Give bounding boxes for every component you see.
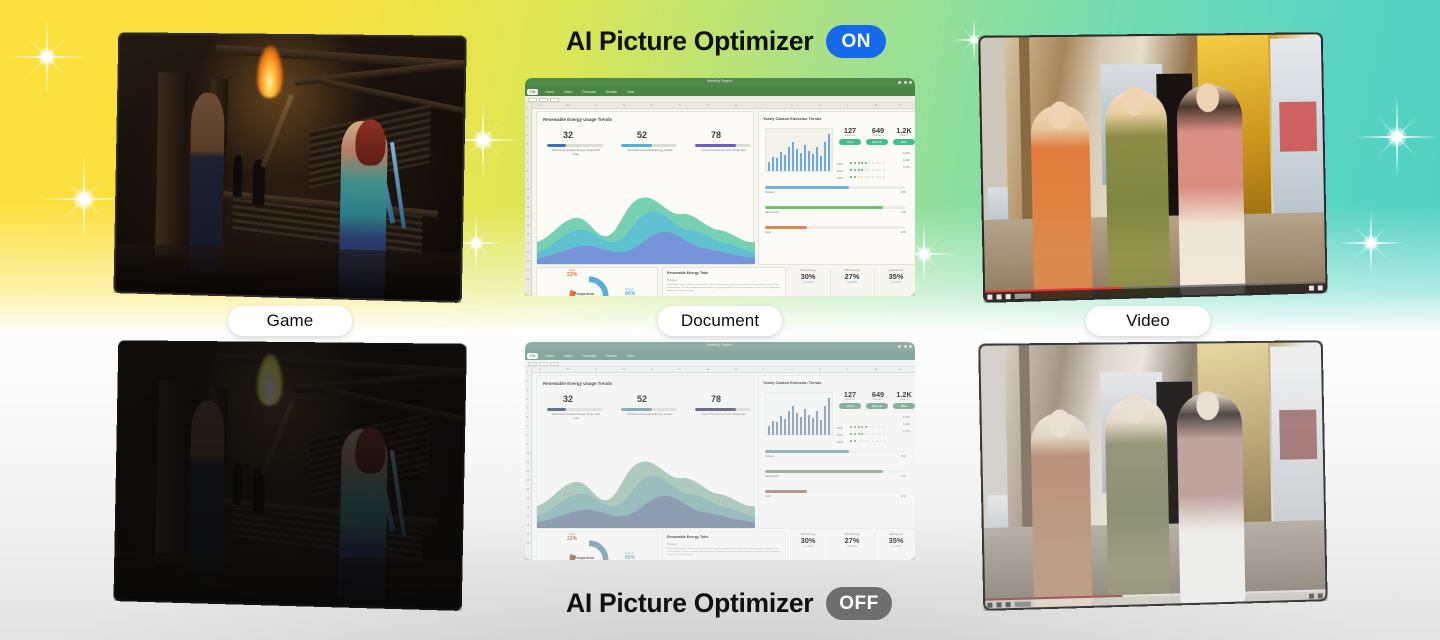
game-screen-on <box>113 32 466 303</box>
metric-value-2: 78 <box>711 394 721 404</box>
document-ribbon[interactable]: File Home Insert Formulas Review View <box>525 87 915 96</box>
ribbon-tab-view[interactable]: View <box>624 353 637 359</box>
document-artwork-off: Monthly Report File Home Insert Formulas… <box>525 342 915 560</box>
game-screen-off <box>113 340 466 611</box>
metric-value-0: 32 <box>563 130 573 140</box>
carbon-bar-chart <box>765 128 833 172</box>
document-screen-on: Monthly Report File Home Insert Formulas… <box>525 78 915 296</box>
stat-emission: 127 EMISSION <box>837 390 863 401</box>
hbar-nuclear <box>765 186 905 189</box>
hbar-label-0: Nuclear <box>765 191 774 194</box>
carbon-bar-chart <box>765 392 833 436</box>
tabs-card-subtitle: Policies <box>667 543 677 546</box>
card-renewable-trends: Renewable Energy Usage Trends 32 Nationa… <box>536 111 754 265</box>
video-screen-on <box>978 32 1327 303</box>
header-on: AI Picture Optimizer ON <box>566 25 886 58</box>
stat-value-0: 127 <box>837 126 863 135</box>
ribbon-tab-view[interactable]: View <box>624 89 637 95</box>
kpi-value-1: 27% <box>832 536 872 545</box>
hbar-label-1: Natural Gas <box>765 211 779 214</box>
year-amount-2: 3,700 <box>903 430 910 433</box>
metric-bar-0 <box>547 408 603 411</box>
tabs-card-body: Renewable energies derive from natural, … <box>667 548 783 557</box>
metric-caption-2: Future Perspective Index Challenges <box>697 149 751 153</box>
formula-bar[interactable] <box>525 96 915 103</box>
document-window-title: Monthly Report <box>707 343 733 347</box>
ribbon-tab-file[interactable]: File <box>527 89 538 95</box>
metric-caption-0: National Renewable Energy Usage Cost Ind… <box>549 149 603 156</box>
metric-value-2: 78 <box>711 130 721 140</box>
year-label-2: 2024 <box>837 441 843 444</box>
metric-value-0: 32 <box>563 394 573 404</box>
video-screen-off <box>978 340 1327 611</box>
hbar-value-0: 26% <box>901 191 906 194</box>
time-text <box>1015 601 1031 606</box>
next-icon[interactable] <box>996 602 1001 607</box>
renewable-trends-title: Renewable Energy Usage Trends <box>543 381 612 386</box>
document-body: Renewable Energy Usage Trends 32 Nationa… <box>532 109 915 296</box>
tabs-card-subtitle: Policies <box>667 279 677 282</box>
carbon-trends-title: Yearly Carbon Emission Trends <box>763 380 821 385</box>
year-amount-1: 4,430 <box>903 423 910 426</box>
stat-pill-1[interactable]: Reports <box>866 403 888 409</box>
kpi-delta-2: (+1.07%) <box>876 281 915 284</box>
kpi-solar: Solar Energy 30% (+2.13%) <box>788 269 828 284</box>
year-amount-1: 4,430 <box>903 159 910 162</box>
stat-impact: 1.2K IMPACT <box>891 390 915 401</box>
game-background-figure <box>233 155 243 197</box>
year-row: 2024 3,700 <box>837 430 885 448</box>
video-artwork-off <box>978 340 1327 611</box>
kpi-delta-2: (+1.07%) <box>876 545 915 548</box>
hbar-natural-gas <box>765 470 905 473</box>
document-artwork: Monthly Report File Home Insert Formulas… <box>525 78 915 296</box>
kpi-value-0: 30% <box>788 536 828 545</box>
stat-caption-2: IMPACT <box>891 135 915 137</box>
row-headers: 1234567891011121314151617181920 <box>525 103 532 296</box>
donut-slice-value-1: 60% <box>625 555 635 560</box>
game-artwork <box>113 32 466 303</box>
stat-targets: 649 TARGETS <box>865 126 891 137</box>
subtitles-icon[interactable] <box>1309 286 1314 291</box>
ribbon-tab-formulas[interactable]: Formulas <box>579 353 599 359</box>
ribbon-tab-review[interactable]: Review <box>603 89 620 95</box>
header-off-title: AI Picture Optimizer <box>566 588 813 619</box>
settings-icon[interactable] <box>1318 593 1323 598</box>
panel-document-off[interactable]: Monthly Report File Home Insert Formulas… <box>525 342 915 560</box>
tabs-card-body: Renewable energies derive from natural, … <box>667 284 783 293</box>
game-character-hair <box>355 119 386 166</box>
stat-pill-0[interactable]: Chart <box>839 139 861 145</box>
stat-targets: 649 TARGETS <box>865 390 891 401</box>
year-label-2: 2024 <box>837 177 843 180</box>
metric-caption-2: Future Perspective Index Challenges <box>697 413 751 417</box>
ribbon-tab-review[interactable]: Review <box>603 353 620 359</box>
stat-caption-1: TARGETS <box>865 399 891 401</box>
header-on-title: AI Picture Optimizer <box>566 26 813 57</box>
donut-center-title: Proportion <box>574 292 594 296</box>
ribbon-tab-formulas[interactable]: Formulas <box>579 89 599 95</box>
window-controls[interactable] <box>898 345 912 348</box>
panel-video-off[interactable] <box>978 340 1327 611</box>
area-chart <box>537 432 755 528</box>
video-subject-2 <box>1105 398 1171 608</box>
header-off: AI Picture Optimizer OFF <box>566 587 892 620</box>
time-text <box>1015 293 1031 298</box>
stat-pill-1[interactable]: Reports <box>866 139 888 145</box>
metric-bar-2 <box>695 408 751 411</box>
stat-pill-2[interactable]: Rate <box>893 139 915 145</box>
hbar-label-1: Natural Gas <box>765 475 779 478</box>
metric-bar-1 <box>621 408 677 411</box>
video-subject-1 <box>1030 413 1092 609</box>
document-titlebar: Monthly Report <box>525 342 915 351</box>
kpi-wind: Wind Energy 27% (+3.04%) <box>832 269 872 284</box>
hbar-solar <box>765 226 905 229</box>
hbar-nuclear <box>765 450 905 453</box>
ribbon-tab-insert[interactable]: Insert <box>561 353 575 359</box>
stat-value-1: 649 <box>865 390 891 399</box>
volume-icon[interactable] <box>1006 294 1011 299</box>
card-proportion-donut: Solar 22% Natural Gas 18% Nuclear 60% Pr… <box>536 531 658 560</box>
hbar-value-2: 22% <box>901 231 906 234</box>
year-amount-2: 3,700 <box>903 166 910 169</box>
year-amount-0: 5,230 <box>903 152 910 155</box>
kpi-delta-1: (+3.04%) <box>832 545 872 548</box>
stat-caption-0: EMISSION <box>837 135 863 137</box>
video-subject-3 <box>1176 393 1245 606</box>
ribbon-tab-home[interactable]: Home <box>542 353 557 359</box>
card-renewable-tabs: Renewable Energy Tabs Policies Renewable… <box>662 267 786 296</box>
donut-center-title: Proportion <box>574 556 594 560</box>
kpi-delta-0: (+2.13%) <box>788 545 828 548</box>
stat-value-2: 1.2K <box>891 126 915 135</box>
donut-slice-value-1: 60% <box>625 291 635 296</box>
tabs-card-title: Renewable Energy Tabs <box>667 535 708 539</box>
kpi-delta-0: (+2.13%) <box>788 281 828 284</box>
game-artwork-off <box>113 340 466 611</box>
video-artwork <box>978 32 1327 303</box>
ribbon-tab-home[interactable]: Home <box>542 89 557 95</box>
subtitles-icon[interactable] <box>1309 594 1314 599</box>
document-window-title: Monthly Report <box>707 79 733 83</box>
hbar-natural-gas <box>765 206 905 209</box>
kpi-delta-1: (+3.04%) <box>832 281 872 284</box>
row-headers: 1234567891011121314151617181920 <box>525 367 532 560</box>
card-proportion-donut: Solar 22% Natural Gas 18% Nuclear 60% Pr… <box>536 267 658 296</box>
next-icon[interactable] <box>996 294 1001 299</box>
video-subject-3 <box>1176 85 1245 298</box>
document-titlebar: Monthly Report <box>525 78 915 87</box>
document-body: Renewable Energy Usage Trends 32 Nationa… <box>532 373 915 560</box>
stat-caption-1: TARGETS <box>865 135 891 137</box>
metric-bar-2 <box>695 144 751 147</box>
stat-pill-0[interactable]: Chart <box>839 403 861 409</box>
stat-emission: 127 EMISSION <box>837 126 863 137</box>
category-pill-game[interactable]: Game <box>228 306 352 336</box>
kpi-value-1: 27% <box>832 272 872 281</box>
tabs-card-title: Renewable Energy Tabs <box>667 271 708 275</box>
carbon-trends-title: Yearly Carbon Emission Trends <box>763 116 821 121</box>
metric-value-1: 52 <box>637 394 647 404</box>
kpi-wind: Wind Energy 27% (+3.04%) <box>832 533 872 548</box>
stat-impact: 1.2K IMPACT <box>891 126 915 137</box>
ribbon-tab-insert[interactable]: Insert <box>561 89 575 95</box>
category-pill-document[interactable]: Document <box>658 306 782 336</box>
stat-pill-2[interactable]: Rate <box>893 403 915 409</box>
kpi-solar: Solar Energy 30% (+2.13%) <box>788 533 828 548</box>
category-pill-video[interactable]: Video <box>1086 306 1210 336</box>
window-controls[interactable] <box>898 81 912 84</box>
renewable-trends-title: Renewable Energy Usage Trends <box>543 117 612 122</box>
game-character-hair <box>355 427 386 474</box>
hbar-label-2: Solar <box>765 495 771 498</box>
volume-icon[interactable] <box>1006 602 1011 607</box>
area-chart <box>537 168 755 264</box>
toggle-on-badge[interactable]: ON <box>826 25 886 58</box>
metric-bar-1 <box>621 144 677 147</box>
hbar-solar <box>765 490 905 493</box>
metric-value-1: 52 <box>637 130 647 140</box>
metric-bar-0 <box>547 144 603 147</box>
stat-value-2: 1.2K <box>891 390 915 399</box>
card-renewable-tabs: Renewable Energy Tabs Policies Renewable… <box>662 531 786 560</box>
stat-value-1: 649 <box>865 126 891 135</box>
hbar-value-2: 22% <box>901 495 906 498</box>
document-ribbon[interactable]: File Home Insert Formulas Review View <box>525 351 915 360</box>
game-background-figure <box>233 463 243 505</box>
metric-caption-0: National Renewable Energy Usage Cost Ind… <box>549 413 603 420</box>
play-icon[interactable] <box>987 295 992 300</box>
stat-caption-0: EMISSION <box>837 399 863 401</box>
hbar-label-0: Nuclear <box>765 455 774 458</box>
hbar-value-0: 26% <box>901 455 906 458</box>
hbar-label-2: Solar <box>765 231 771 234</box>
panel-game-off[interactable] <box>113 340 466 611</box>
hbar-value-1: 12% <box>901 211 906 214</box>
toggle-off-badge[interactable]: OFF <box>826 587 892 620</box>
kpi-value-0: 30% <box>788 272 828 281</box>
card-renewable-trends: Renewable Energy Usage Trends 32 Nationa… <box>536 375 754 529</box>
formula-bar[interactable] <box>525 360 915 367</box>
stat-caption-2: IMPACT <box>891 399 915 401</box>
kpi-hydro: Hydropower 35% (+1.07%) <box>876 269 915 284</box>
kpi-hydro: Hydropower 35% (+1.07%) <box>876 533 915 548</box>
kpi-value-2: 35% <box>876 536 915 545</box>
ribbon-tab-file[interactable]: File <box>527 353 538 359</box>
panel-game-on[interactable] <box>113 32 466 303</box>
metric-caption-1: Worldwide Renewable Energy Growth <box>623 413 677 417</box>
kpi-value-2: 35% <box>876 272 915 281</box>
year-amount-0: 5,230 <box>903 416 910 419</box>
metric-caption-1: Worldwide Renewable Energy Growth <box>623 149 677 153</box>
document-screen-off: Monthly Report File Home Insert Formulas… <box>525 342 915 560</box>
settings-icon[interactable] <box>1318 285 1323 290</box>
stat-value-0: 127 <box>837 390 863 399</box>
card-carbon-trends: Yearly Carbon Emission Trends <box>758 375 915 529</box>
panel-document-on[interactable]: Monthly Report File Home Insert Formulas… <box>525 78 915 296</box>
video-subject-2 <box>1105 90 1171 300</box>
year-row: 2024 3,700 <box>837 166 885 184</box>
panel-video-on[interactable] <box>978 32 1327 303</box>
play-icon[interactable] <box>987 603 992 608</box>
hbar-value-1: 12% <box>901 475 906 478</box>
card-carbon-trends: Yearly Carbon Emission Trends <box>758 111 915 265</box>
video-subject-1 <box>1030 105 1092 301</box>
